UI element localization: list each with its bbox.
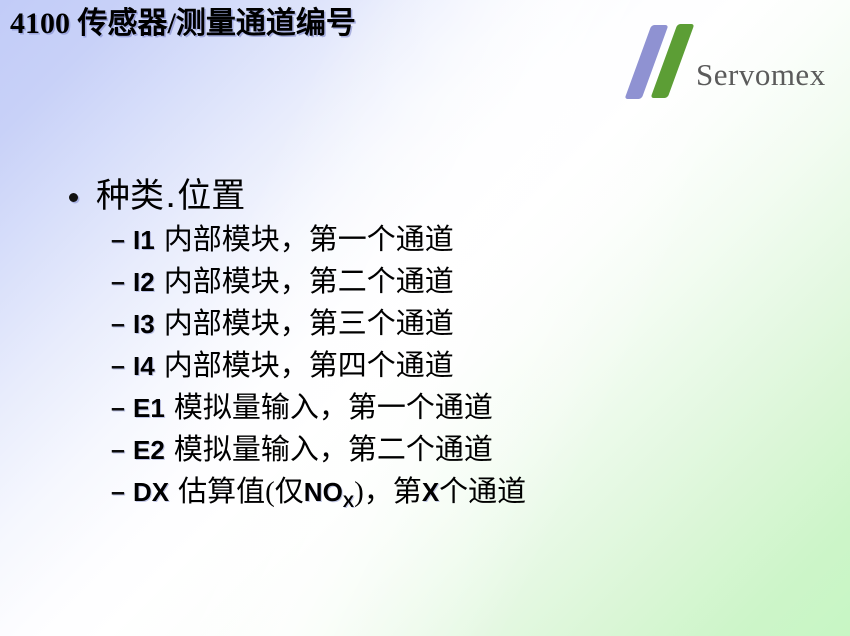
- bullet-level1-text: 种类.位置: [96, 178, 245, 215]
- bullet-dot-icon: [69, 193, 78, 202]
- list-item: – E2模拟量输入，第二个通道: [0, 430, 850, 472]
- level1-text-before: 种类: [96, 178, 164, 215]
- dash-marker-icon: –: [111, 430, 125, 470]
- logo-wordmark: Servomex: [696, 58, 826, 92]
- channel-description-part1: 估算值(仅: [169, 476, 304, 508]
- channel-description: 模拟量输入，第二个通道: [165, 434, 493, 466]
- channel-description: 内部模块，第三个通道: [155, 308, 454, 340]
- channel-code: I1: [133, 225, 155, 255]
- channel-code: DX: [133, 477, 169, 507]
- channel-code-list: – I1内部模块，第一个通道 – I2内部模块，第二个通道 – I3内部模块，第…: [0, 220, 850, 514]
- level1-text-after: 位置: [177, 178, 245, 215]
- servomex-logo: Servomex: [620, 22, 842, 104]
- dash-marker-icon: –: [111, 388, 125, 428]
- channel-description-code: X: [422, 477, 439, 507]
- formula-main: NO: [304, 477, 343, 507]
- list-item: – I4内部模块，第四个通道: [0, 346, 850, 388]
- dash-marker-icon: –: [111, 220, 125, 260]
- list-item: – I3内部模块，第三个通道: [0, 304, 850, 346]
- dash-marker-icon: –: [111, 304, 125, 344]
- channel-code: I3: [133, 309, 155, 339]
- channel-description-part3: 个通道: [439, 476, 526, 508]
- list-item: – I2内部模块，第二个通道: [0, 262, 850, 304]
- dash-marker-icon: –: [111, 346, 125, 386]
- slide-body: 种类.位置 – I1内部模块，第一个通道 – I2内部模块，第二个通道 – I3…: [0, 176, 850, 514]
- dash-marker-icon: –: [111, 472, 125, 512]
- channel-code: E1: [133, 393, 165, 423]
- list-item: – E1模拟量输入，第一个通道: [0, 388, 850, 430]
- channel-code: I2: [133, 267, 155, 297]
- channel-description: 内部模块，第四个通道: [155, 350, 454, 382]
- dash-marker-icon: –: [111, 262, 125, 302]
- bullet-level1: 种类.位置: [0, 176, 850, 220]
- slide-canvas: 4100 传感器/测量通道编号 Servomex 种类.位置 – I1内部模块，…: [0, 0, 850, 636]
- list-item: – I1内部模块，第一个通道: [0, 220, 850, 262]
- level1-dot-separator: .: [164, 183, 177, 213]
- list-item: – DX估算值(仅NOX)，第X个通道: [0, 472, 850, 514]
- channel-description: 内部模块，第一个通道: [155, 224, 454, 256]
- channel-code: I4: [133, 351, 155, 381]
- channel-description-part2: )，第: [354, 476, 422, 508]
- formula-subscript: X: [343, 492, 354, 511]
- channel-description: 模拟量输入，第一个通道: [165, 392, 493, 424]
- channel-code: E2: [133, 435, 165, 465]
- page-title: 4100 传感器/测量通道编号: [10, 4, 356, 44]
- channel-description: 内部模块，第二个通道: [155, 266, 454, 298]
